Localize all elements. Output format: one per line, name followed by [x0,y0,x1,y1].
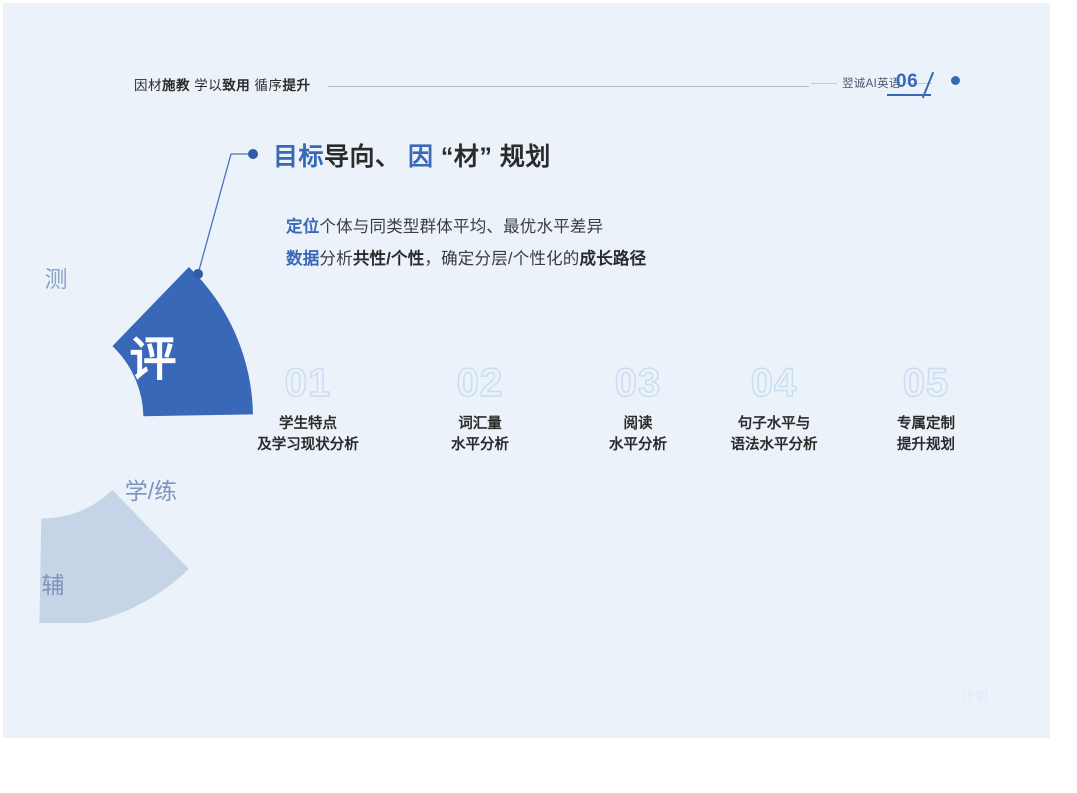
header-tagline: 因材施教 学以致用 循序提升 [134,74,311,94]
step-item-02[interactable]: 02词汇量水平分析 [390,363,570,455]
step-number-05: 05 [836,363,1016,403]
wheel-label-fu: 辅 [42,572,65,598]
step-label-01: 学生特点及学习现状分析 [218,414,398,455]
step-number-01: 01 [218,363,398,403]
header-tagline-part-3: 致用 [222,78,250,93]
header-tagline-part-1: 施教 [162,78,190,93]
connector-line [198,154,253,274]
page-title: 目标导向、 因 “材” 规划 [273,137,551,173]
step-label-line2-01: 及学习现状分析 [218,435,398,456]
header-divider-line [328,86,809,87]
step-label-line2-05: 提升规划 [836,435,1016,456]
page-title-part-0: 目标 [273,143,324,171]
header-tagline-part-5: 提升 [283,78,311,93]
page-title-part-2: 因 [401,143,434,171]
wheel-label-ce: 测 [45,266,68,292]
step-item-05[interactable]: 05专属定制提升规划 [836,363,1016,455]
brand-name: 翌诚AI英语 [842,75,901,91]
body-line-2-part-1: 分析 [319,250,352,268]
slide-canvas: 因材施教 学以致用 循序提升 翌诚AI英语 06 测 评 学/练 [3,3,1050,738]
step-label-line2-02: 水平分析 [390,435,570,456]
header-accent-dot [951,76,960,85]
connector-dot-title [248,149,258,159]
header-tagline-part-0: 因材 [134,78,162,93]
step-item-01[interactable]: 01学生特点及学习现状分析 [218,363,398,455]
body-line-2-part-2: 共性/个性 [353,250,425,268]
page-number: 06 [896,71,918,93]
step-list: 01学生特点及学习现状分析02词汇量水平分析03阅读水平分析04句子水平与语法水… [251,363,1011,473]
step-label-05: 专属定制提升规划 [836,414,1016,455]
page-title-part-3: “材” 规划 [433,143,550,171]
wheel-label-ping: 评 [130,332,177,385]
body-line-1: 定位个体与同类型群体平均、最优水平差异 [286,213,603,237]
body-line-2-part-3: ，确定分层/个性化的 [424,250,579,268]
step-number-02: 02 [390,363,570,403]
page-title-part-1: 导向、 [324,143,401,171]
step-label-line1-01: 学生特点 [218,414,398,435]
body-line-1-part-1: 个体与同类型群体平均、最优水平差异 [319,218,603,236]
header-tagline-part-4: 循序 [250,78,282,93]
connector-dot-wheel [193,269,203,279]
header-tagline-part-2: 学以 [190,78,222,93]
wheel-label-xuelian: 学/练 [125,478,177,504]
body-line-2-part-0: 数据 [286,250,319,268]
step-label-line1-02: 词汇量 [390,414,570,435]
watermark: 计划 [961,685,989,704]
step-label-02: 词汇量水平分析 [390,414,570,455]
step-label-line1-05: 专属定制 [836,414,1016,435]
body-line-1-part-0: 定位 [286,218,319,236]
body-line-2-part-4: 成长路径 [580,250,647,268]
brand-rule-left [811,83,837,84]
body-line-2: 数据分析共性/个性，确定分层/个性化的成长路径 [286,245,646,269]
